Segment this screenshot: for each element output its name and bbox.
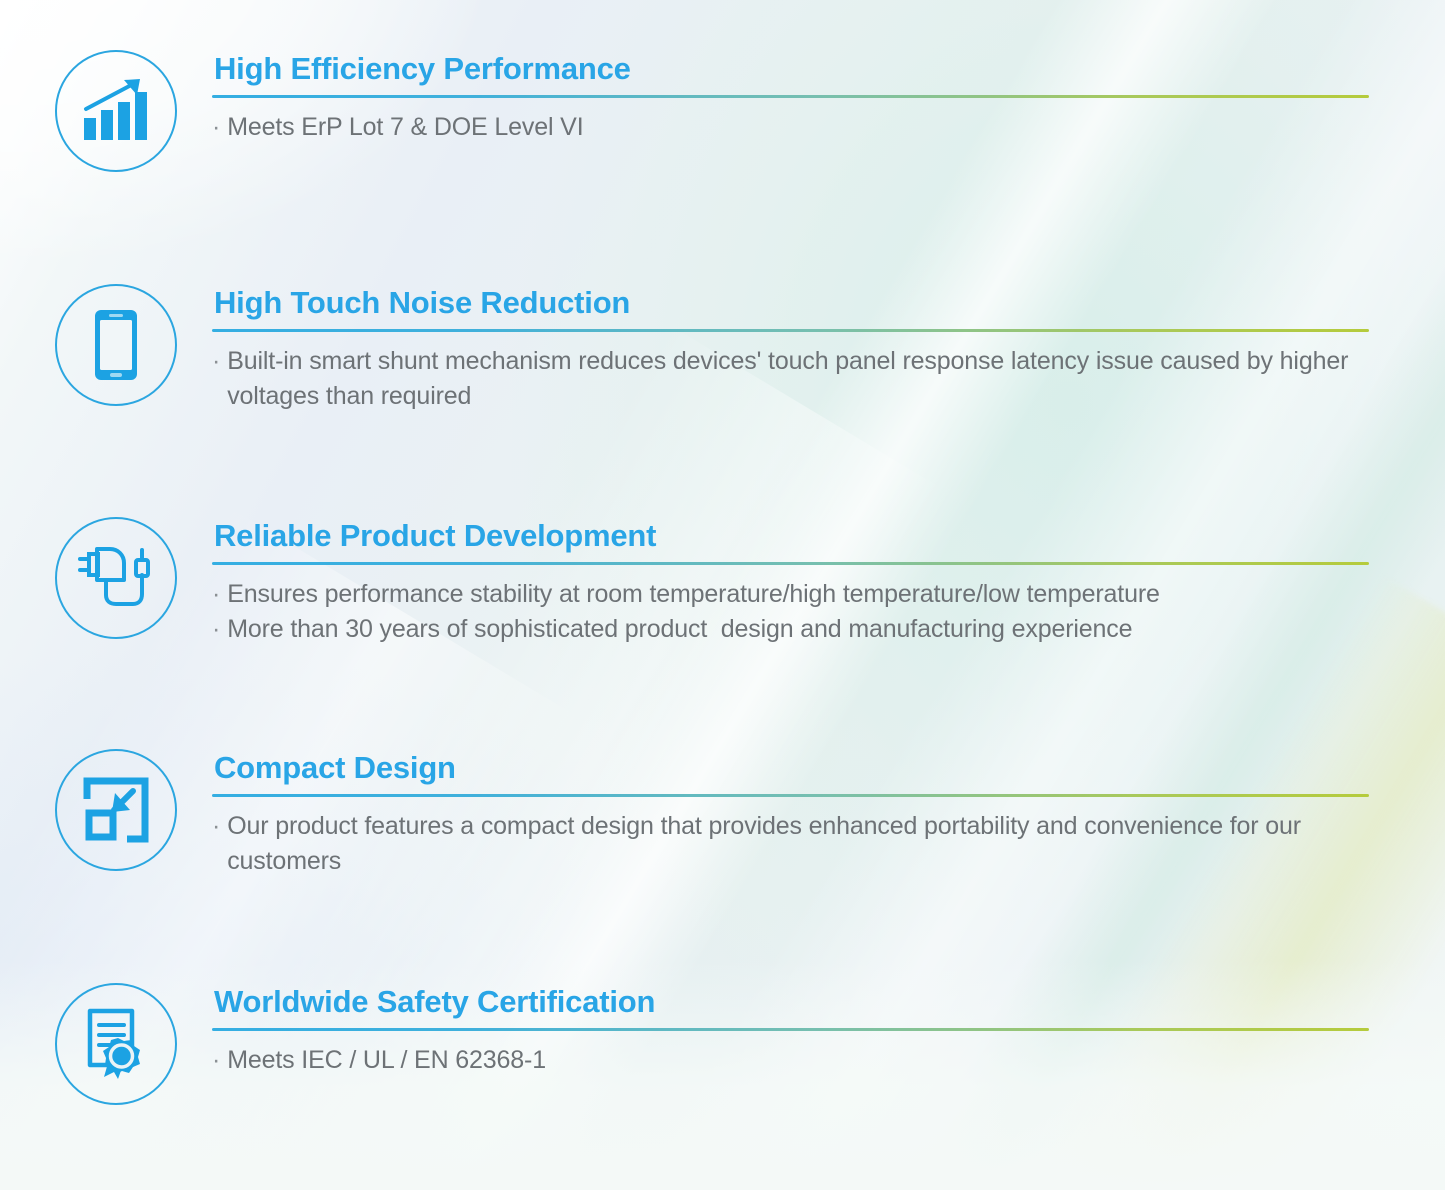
feature-bullet-line: · Ensures performance stability at room … (212, 577, 1370, 612)
feature-bullet-text: Ensures performance stability at room te… (227, 577, 1370, 612)
feature-item-reliable-product-development: Reliable Product Development · Ensures p… (52, 515, 1370, 647)
feature-title: Worldwide Safety Certification (214, 985, 1370, 1019)
feature-divider (212, 794, 1369, 797)
feature-bullet-text: Our product features a compact design th… (227, 809, 1370, 879)
feature-bullet-text: Meets IEC / UL / EN 62368-1 (227, 1043, 1370, 1078)
bar-chart-growth-icon (55, 50, 177, 172)
feature-bullet-text: More than 30 years of sophisticated prod… (227, 612, 1370, 647)
compact-resize-icon (55, 749, 177, 871)
feature-bullet-line: · Meets IEC / UL / EN 62368-1 (212, 1043, 1370, 1078)
feature-text-block: Compact Design · Our product features a … (180, 747, 1370, 879)
smartphone-icon (55, 284, 177, 406)
feature-bullet-text: Built-in smart shunt mechanism reduces d… (227, 344, 1370, 414)
feature-text-block: Worldwide Safety Certification · Meets I… (180, 981, 1370, 1078)
feature-text-block: High Efficiency Performance · Meets ErP … (180, 48, 1370, 145)
feature-bullet-list: · Meets IEC / UL / EN 62368-1 (212, 1043, 1370, 1078)
feature-title: High Touch Noise Reduction (214, 286, 1370, 320)
feature-item-high-touch-noise-reduction: High Touch Noise Reduction · Built-in sm… (52, 282, 1370, 414)
bullet-marker-icon: · (212, 344, 220, 379)
power-adapter-icon (55, 517, 177, 639)
feature-item-worldwide-safety-certification: Worldwide Safety Certification · Meets I… (52, 981, 1370, 1105)
feature-bullet-line: · More than 30 years of sophisticated pr… (212, 612, 1370, 647)
feature-text-block: High Touch Noise Reduction · Built-in sm… (180, 282, 1370, 414)
feature-bullet-line: · Built-in smart shunt mechanism reduces… (212, 344, 1370, 414)
feature-divider (212, 329, 1369, 332)
feature-bullet-list: · Meets ErP Lot 7 & DOE Level VI (212, 110, 1370, 145)
feature-icon-wrapper (52, 48, 180, 172)
feature-bullet-text: Meets ErP Lot 7 & DOE Level VI (227, 110, 1370, 145)
feature-icon-wrapper (52, 515, 180, 639)
bullet-marker-icon: · (212, 1043, 220, 1078)
feature-bullet-list: · Ensures performance stability at room … (212, 577, 1370, 647)
feature-item-high-efficiency-performance: High Efficiency Performance · Meets ErP … (52, 48, 1370, 172)
feature-icon-wrapper (52, 747, 180, 871)
bullet-marker-icon: · (212, 809, 220, 844)
feature-bullet-list: · Our product features a compact design … (212, 809, 1370, 879)
feature-icon-wrapper (52, 981, 180, 1105)
bullet-marker-icon: · (212, 612, 220, 647)
feature-divider (212, 95, 1369, 98)
feature-bullet-line: · Our product features a compact design … (212, 809, 1370, 879)
bullet-marker-icon: · (212, 577, 220, 612)
feature-text-block: Reliable Product Development · Ensures p… (180, 515, 1370, 647)
feature-divider (212, 1028, 1369, 1031)
feature-divider (212, 562, 1369, 565)
feature-bullet-list: · Built-in smart shunt mechanism reduces… (212, 344, 1370, 414)
feature-icon-wrapper (52, 282, 180, 406)
feature-highlights-page: High Efficiency Performance · Meets ErP … (0, 0, 1445, 1190)
feature-title: High Efficiency Performance (214, 52, 1370, 86)
feature-item-compact-design: Compact Design · Our product features a … (52, 747, 1370, 879)
certificate-award-icon (55, 983, 177, 1105)
feature-title: Reliable Product Development (214, 519, 1370, 553)
bullet-marker-icon: · (212, 110, 220, 145)
feature-bullet-line: · Meets ErP Lot 7 & DOE Level VI (212, 110, 1370, 145)
feature-title: Compact Design (214, 751, 1370, 785)
